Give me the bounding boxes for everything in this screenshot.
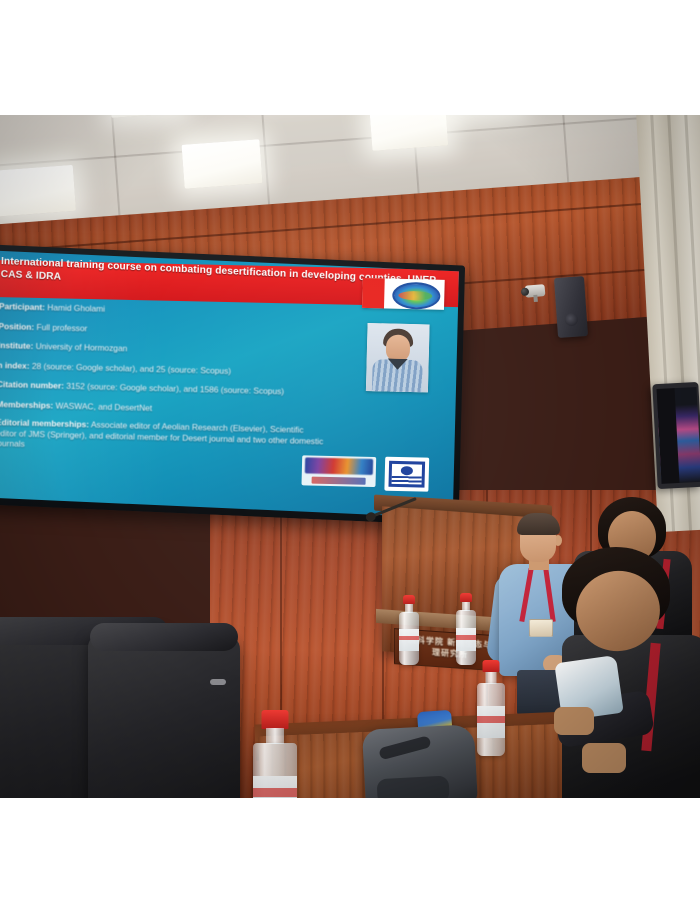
water-bottle	[455, 593, 477, 665]
side-monitor	[652, 382, 700, 489]
slide-line: h index: 28 (source: Google scholar), an…	[0, 360, 327, 379]
conference-room-photograph: International training course on combati…	[0, 115, 700, 798]
slide-body: Participant: Hamid Gholami Position: Ful…	[0, 301, 329, 466]
slide-line-label: Memberships:	[0, 399, 53, 410]
security-camera-icon	[520, 282, 547, 301]
wall-speaker	[554, 276, 588, 338]
slide-line-value: University of Hormozgan	[35, 341, 127, 353]
slide-line-label: Citation number:	[0, 379, 64, 391]
attendee-foreground	[540, 547, 700, 797]
slide-line-value: WASWAC, and DesertNet	[55, 401, 152, 413]
slide-line-value: 28 (source: Google scholar), and 25 (sou…	[32, 361, 231, 376]
slide-line: Position: Full professor	[0, 321, 328, 340]
slide-line-label: Participant:	[0, 301, 45, 312]
ceiling-light	[182, 139, 263, 189]
blue-institute-logo-icon	[384, 457, 429, 492]
slide-line-value: Full professor	[36, 322, 87, 333]
photo-frame: International training course on combati…	[0, 0, 700, 921]
slide-line-label: Institute:	[0, 340, 33, 351]
slide-line: Editorial memberships: Associate editor …	[0, 417, 326, 457]
slide-line-label: h index:	[0, 360, 30, 371]
ceiling-light	[369, 115, 448, 151]
participant-portrait-photo	[366, 323, 430, 392]
slide-line: Participant: Hamid Gholami	[0, 301, 329, 320]
slide-line-value: 3152 (source: Google scholar), and 1586 …	[66, 381, 284, 397]
chinese-academy-logo-icon	[301, 455, 376, 487]
slide-line-label: Position:	[0, 321, 34, 332]
water-bottle	[252, 710, 298, 798]
ceiling-light	[0, 165, 76, 217]
water-bottle	[398, 595, 420, 665]
rainbow-globe-logo-icon	[362, 278, 445, 310]
leather-chair	[88, 635, 240, 798]
slide-content: International training course on combati…	[0, 251, 459, 519]
slide-line: Citation number: 3152 (source: Google sc…	[0, 379, 327, 398]
slide-line: Memberships: WASWAC, and DesertNet	[0, 399, 326, 418]
presentation-screen: International training course on combati…	[0, 244, 465, 525]
slide-line: Institute: University of Hormozgan	[0, 340, 328, 359]
water-bottle	[476, 660, 506, 756]
slide-line-value: Hamid Gholami	[47, 302, 105, 313]
gray-backpack	[362, 724, 478, 798]
